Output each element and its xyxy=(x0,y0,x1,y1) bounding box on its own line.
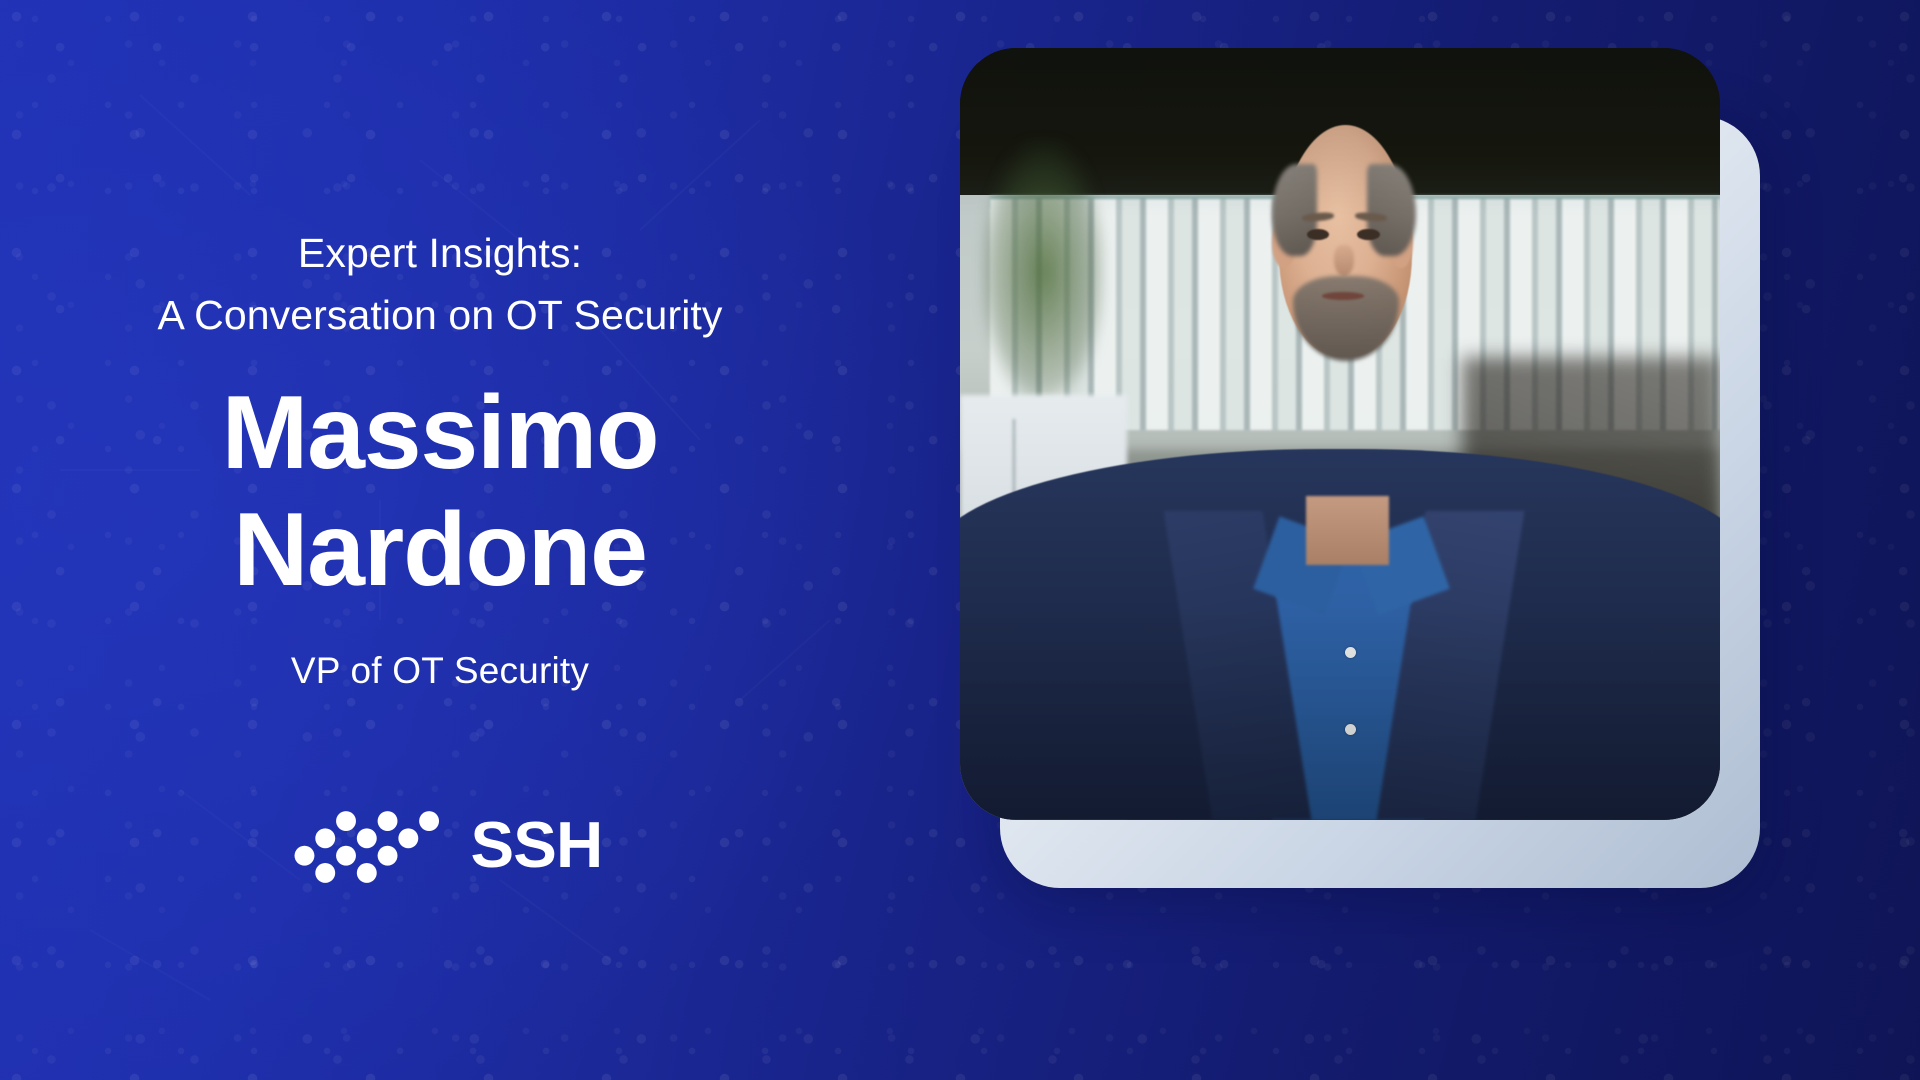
speaker-name: Massimo Nardone xyxy=(222,375,659,610)
speaker-last-name: Nardone xyxy=(222,492,659,610)
slide-text-column: Expert Insights: A Conversation on OT Se… xyxy=(0,0,880,1080)
ssh-logo: SSH xyxy=(280,807,600,887)
slide-eyebrow: Expert Insights: A Conversation on OT Se… xyxy=(157,222,722,347)
portrait-container xyxy=(960,48,1720,820)
speaker-role: VP of OT Security xyxy=(291,650,589,692)
ssh-dots-icon xyxy=(280,802,470,892)
eyebrow-line-2: A Conversation on OT Security xyxy=(157,284,722,346)
eyebrow-line-1: Expert Insights: xyxy=(298,230,582,276)
presentation-slide: Expert Insights: A Conversation on OT Se… xyxy=(0,0,1920,1080)
ssh-wordmark-text: SSH xyxy=(470,810,600,881)
portrait-photo xyxy=(960,48,1720,820)
ssh-wordmark: SSH xyxy=(470,810,600,884)
speaker-first-name: Massimo xyxy=(222,375,659,491)
